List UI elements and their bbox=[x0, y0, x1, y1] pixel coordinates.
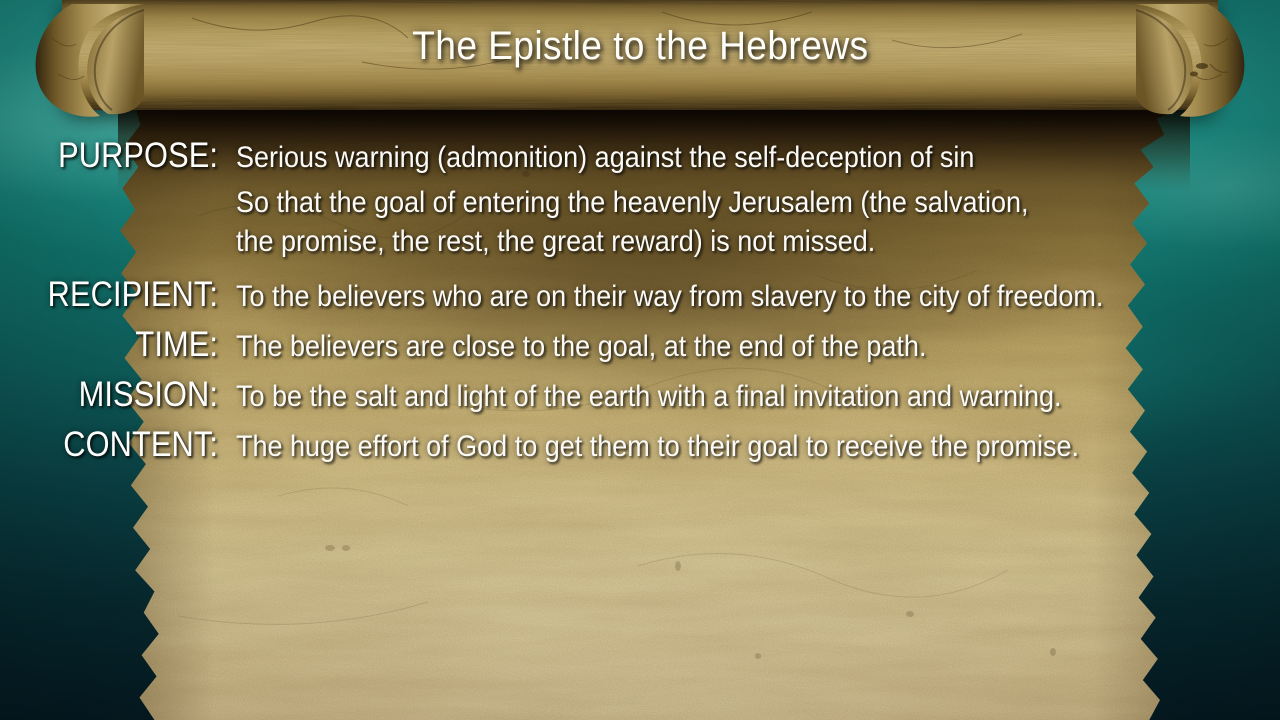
row-mission: MISSION: To be the salt and light of the… bbox=[0, 375, 1280, 416]
value-mission: To be the salt and light of the earth wi… bbox=[236, 377, 1062, 416]
value-purpose-line-2a: So that the goal of entering the heavenl… bbox=[236, 183, 1028, 222]
page-title-text: The Epistle to the Hebrews bbox=[412, 22, 868, 70]
row-purpose-continued: So that the goal of entering the heavenl… bbox=[0, 181, 1280, 261]
label-content: CONTENT: bbox=[26, 425, 218, 465]
row-purpose: PURPOSE: Serious warning (admonition) ag… bbox=[0, 136, 1280, 177]
value-time: The believers are close to the goal, at … bbox=[236, 327, 926, 366]
row-content: CONTENT: The huge effort of God to get t… bbox=[0, 425, 1280, 466]
value-recipient: To the believers who are on their way fr… bbox=[236, 277, 1103, 316]
row-time: TIME: The believers are close to the goa… bbox=[0, 325, 1280, 366]
label-mission: MISSION: bbox=[26, 375, 218, 415]
value-purpose-continued: So that the goal of entering the heavenl… bbox=[236, 183, 1028, 261]
value-purpose-line-2b: the promise, the rest, the great reward)… bbox=[236, 222, 1028, 261]
row-recipient: RECIPIENT: To the believers who are on t… bbox=[0, 275, 1280, 316]
label-purpose: PURPOSE: bbox=[26, 136, 218, 176]
label-recipient: RECIPIENT: bbox=[26, 275, 218, 315]
value-purpose-line-1: Serious warning (admonition) against the… bbox=[236, 138, 974, 177]
value-purpose: Serious warning (admonition) against the… bbox=[236, 138, 974, 177]
page-title: The Epistle to the Hebrews bbox=[0, 22, 1280, 70]
value-content: The huge effort of God to get them to th… bbox=[236, 427, 1079, 466]
scroll-content: PURPOSE: Serious warning (admonition) ag… bbox=[0, 136, 1280, 475]
label-time: TIME: bbox=[26, 325, 218, 365]
